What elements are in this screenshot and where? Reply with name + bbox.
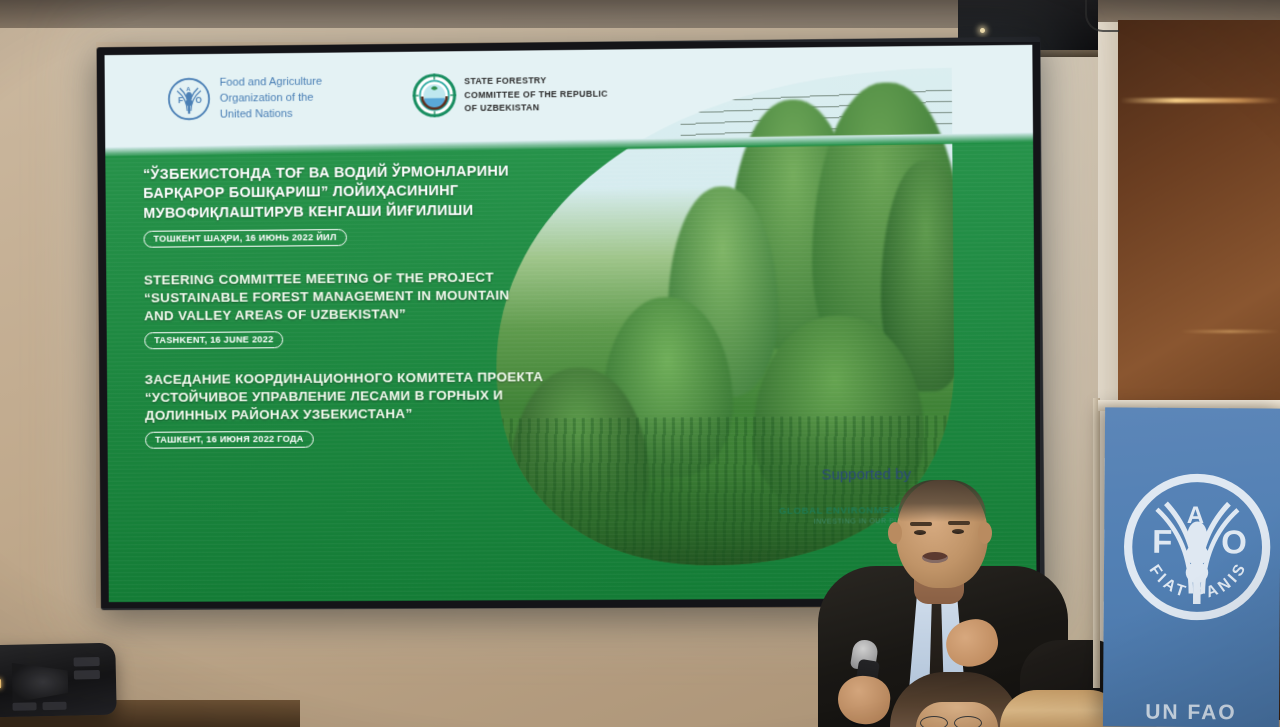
svg-text:O: O <box>1221 523 1247 560</box>
english-date-badge: TASHKENT, 16 JUNE 2022 <box>144 331 283 349</box>
svg-text:F: F <box>178 96 183 105</box>
uzbek-title-block: “ЎЗБЕКИСТОНДА ТОҒ ВА ВОДИЙ ЎРМОНЛАРИНИ Б… <box>143 163 509 248</box>
english-title: STEERING COMMITTEE MEETING OF THE PROJEC… <box>144 269 510 326</box>
eyeglasses-left-icon <box>920 716 948 727</box>
uzbek-line-3: МУВОФИҚЛАШТИРУВ КЕНГАШИ ЙИҒИЛИШИ <box>143 201 509 224</box>
svg-text:F: F <box>1152 523 1172 560</box>
fao-logo: F O A <box>166 76 212 122</box>
fao-logo: F O A FIAT PANIS <box>1122 472 1273 623</box>
banner-pole <box>1093 398 1100 688</box>
russian-line-3: ДОЛИННЫХ РАЙОНАХ УЗБЕКИСТАНА” <box>145 404 544 425</box>
svg-text:A: A <box>1187 502 1205 529</box>
banner-footer-text: UN FAO <box>1103 700 1279 725</box>
uzbek-title: “ЎЗБЕКИСТОНДА ТОҒ ВА ВОДИЙ ЎРМОНЛАРИНИ Б… <box>143 163 509 225</box>
wood-light-reflection-2 <box>1180 330 1280 333</box>
fao-line-3: United Nations <box>220 106 323 123</box>
fao-wordmark: Food and Agriculture Organization of the… <box>220 75 323 124</box>
fao-rollup-banner: F O A FIAT PANIS UN FAO <box>1103 407 1280 727</box>
ceiling-cable <box>1085 0 1119 32</box>
russian-line-2: “УСТОЙЧИВОЕ УПРАВЛЕНИЕ ЛЕСАМИ В ГОРНЫХ И <box>145 386 544 407</box>
pa-loudspeaker <box>0 643 117 718</box>
fao-line-1: Food and Agriculture <box>220 75 323 92</box>
sfc-line-2: COMMITTEE OF THE REPUBLIC <box>464 87 608 102</box>
svg-text:O: O <box>195 96 202 105</box>
speaker-horn <box>12 662 69 703</box>
uzbek-date-badge: ТОШКЕНТ ШАҲРИ, 16 ИЮНЬ 2022 ЙИЛ <box>143 229 346 247</box>
sfc-wordmark: STATE FORESTRY COMMITTEE OF THE REPUBLIC… <box>464 74 608 116</box>
russian-title-block: ЗАСЕДАНИЕ КООРДИНАЦИОННОГО КОМИТЕТА ПРОЕ… <box>145 368 544 448</box>
eyeglasses-right-icon <box>954 716 982 727</box>
speaker-power-led-icon <box>0 679 1 688</box>
english-line-2: “SUSTAINABLE FOREST MANAGEMENT IN MOUNTA… <box>144 287 510 308</box>
sfc-line-3: OF UZBEKISTAN <box>464 101 608 116</box>
state-forestry-committee-logo <box>412 73 456 117</box>
svg-text:A: A <box>186 87 191 93</box>
english-title-block: STEERING COMMITTEE MEETING OF THE PROJEC… <box>144 269 510 349</box>
wood-light-reflection <box>1120 98 1280 103</box>
presenter-mouth <box>922 552 948 563</box>
presenter-hair <box>898 480 986 522</box>
russian-date-badge: ТАШКЕНТ, 16 ИЮНЯ 2022 ГОДА <box>145 431 314 449</box>
russian-title: ЗАСЕДАНИЕ КООРДИНАЦИОННОГО КОМИТЕТА ПРОЕ… <box>145 368 544 425</box>
projector-led-icon <box>980 28 985 33</box>
english-line-3: AND VALLEY AREAS OF UZBEKISTAN” <box>144 305 510 326</box>
fao-line-2: Organization of the <box>220 91 323 108</box>
photo-scene: F O A Food and Agriculture Organization … <box>0 0 1280 727</box>
